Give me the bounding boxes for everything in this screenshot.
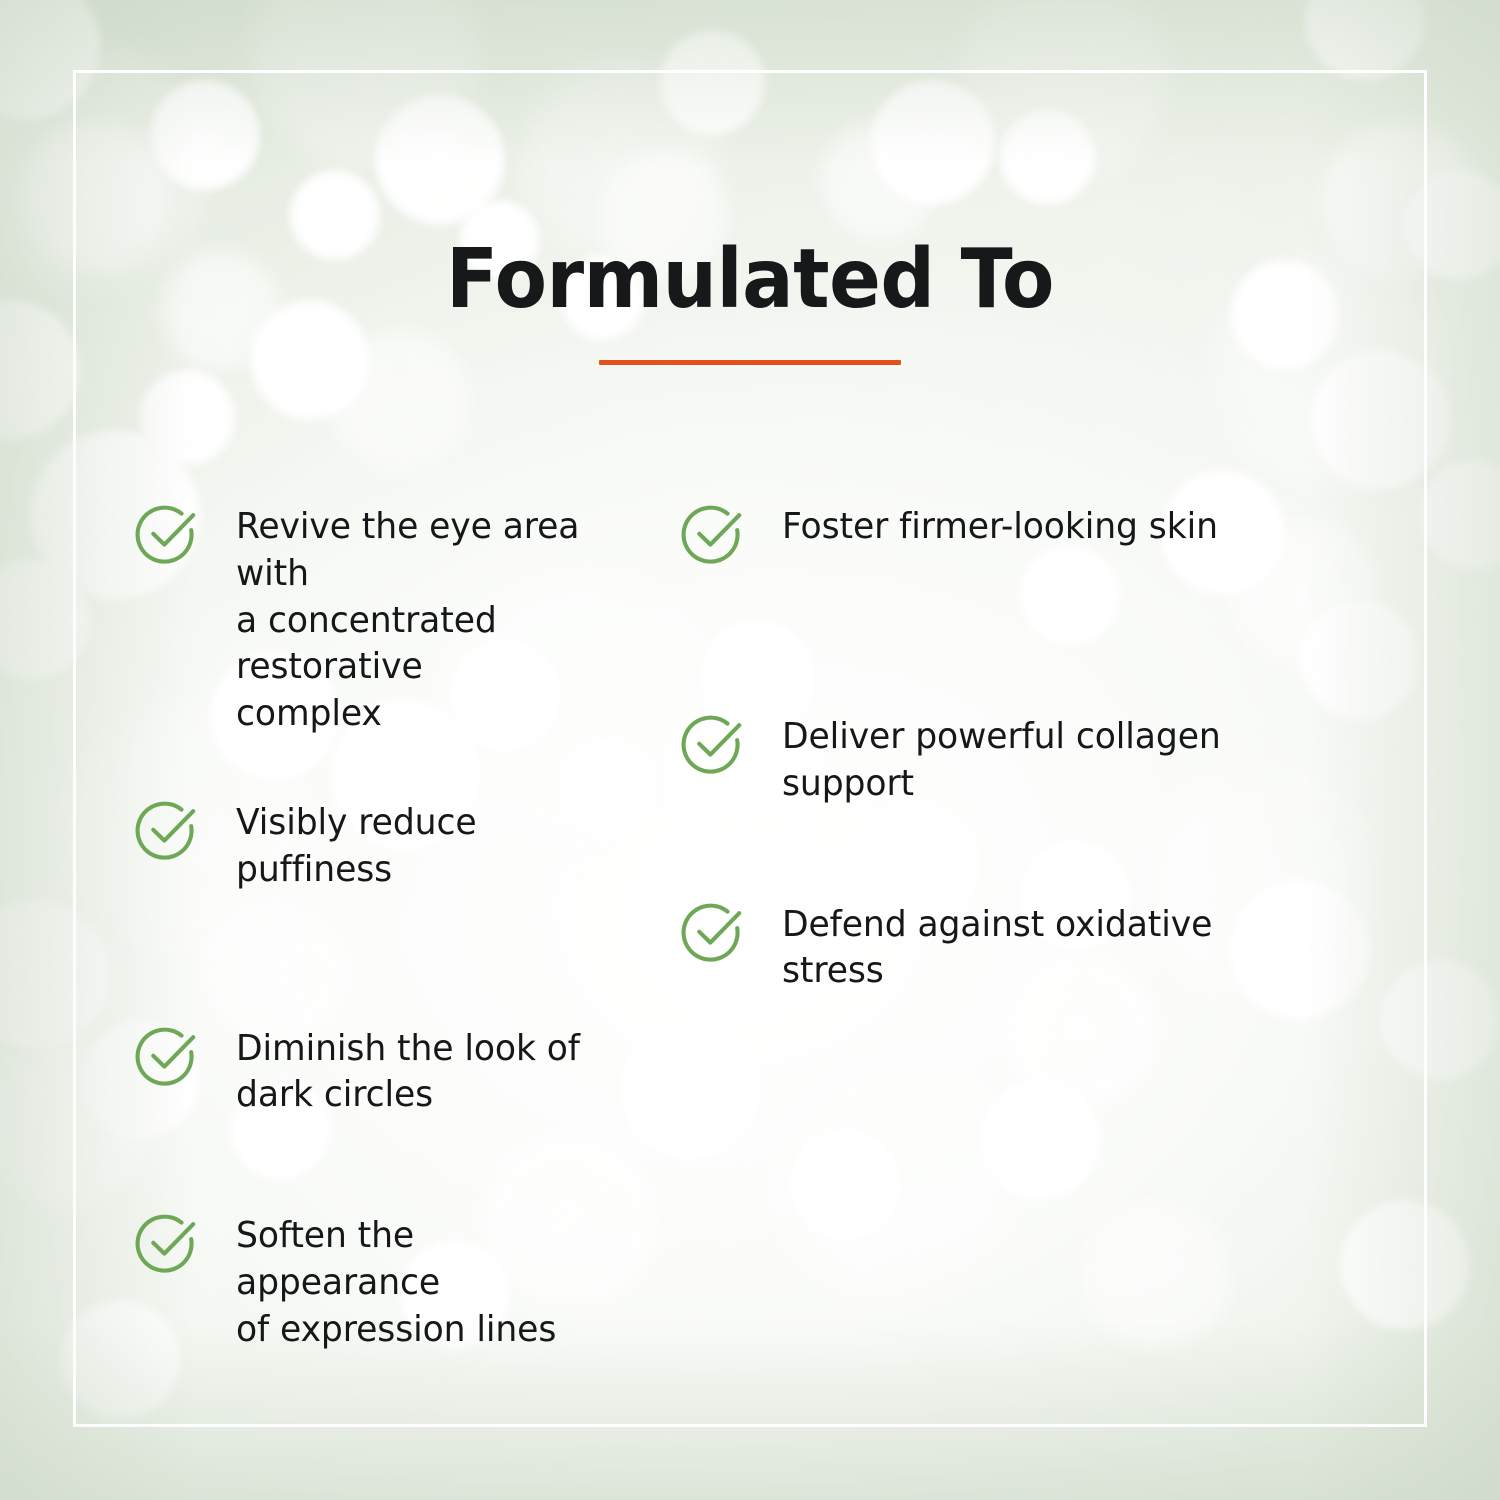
check-circle-icon <box>134 796 202 864</box>
benefit-item: Visibly reduce puffiness <box>134 794 640 894</box>
benefit-label: Visibly reduce puffiness <box>236 794 624 894</box>
benefit-item: Soften the appearance of expression line… <box>134 1207 640 1353</box>
content-area: Formulated To Revive the eye area with a… <box>0 0 1500 1500</box>
check-circle-icon <box>134 1209 202 1277</box>
benefit-label: Foster firmer-looking skin <box>782 498 1218 551</box>
benefit-item: Deliver powerful collagen support <box>680 708 1280 808</box>
benefits-grid: Revive the eye area with a concentrated … <box>0 498 1500 1354</box>
benefits-column-left: Revive the eye area with a concentrated … <box>0 498 640 1354</box>
benefit-item: Diminish the look of dark circles <box>134 1020 640 1120</box>
benefit-label: Soften the appearance of expression line… <box>236 1207 624 1353</box>
benefits-column-right: Foster firmer-looking skin Deliver power… <box>640 498 1280 1354</box>
benefit-item: Foster firmer-looking skin <box>680 498 1280 568</box>
page-title: Formulated To <box>53 238 1448 322</box>
check-circle-icon <box>680 710 748 778</box>
marketing-infographic: Formulated To Revive the eye area with a… <box>0 0 1500 1500</box>
benefit-item: Defend against oxidative stress <box>680 896 1280 996</box>
benefit-item: Revive the eye area with a concentrated … <box>134 498 640 738</box>
check-circle-icon <box>680 898 748 966</box>
header-block: Formulated To <box>0 238 1500 365</box>
benefit-label: Revive the eye area with a concentrated … <box>236 498 624 738</box>
check-circle-icon <box>680 500 748 568</box>
check-circle-icon <box>134 1022 202 1090</box>
benefit-label: Defend against oxidative stress <box>782 896 1212 996</box>
benefit-label: Deliver powerful collagen support <box>782 708 1221 808</box>
benefit-label: Diminish the look of dark circles <box>236 1020 580 1120</box>
check-circle-icon <box>134 500 202 568</box>
title-divider <box>599 360 901 365</box>
